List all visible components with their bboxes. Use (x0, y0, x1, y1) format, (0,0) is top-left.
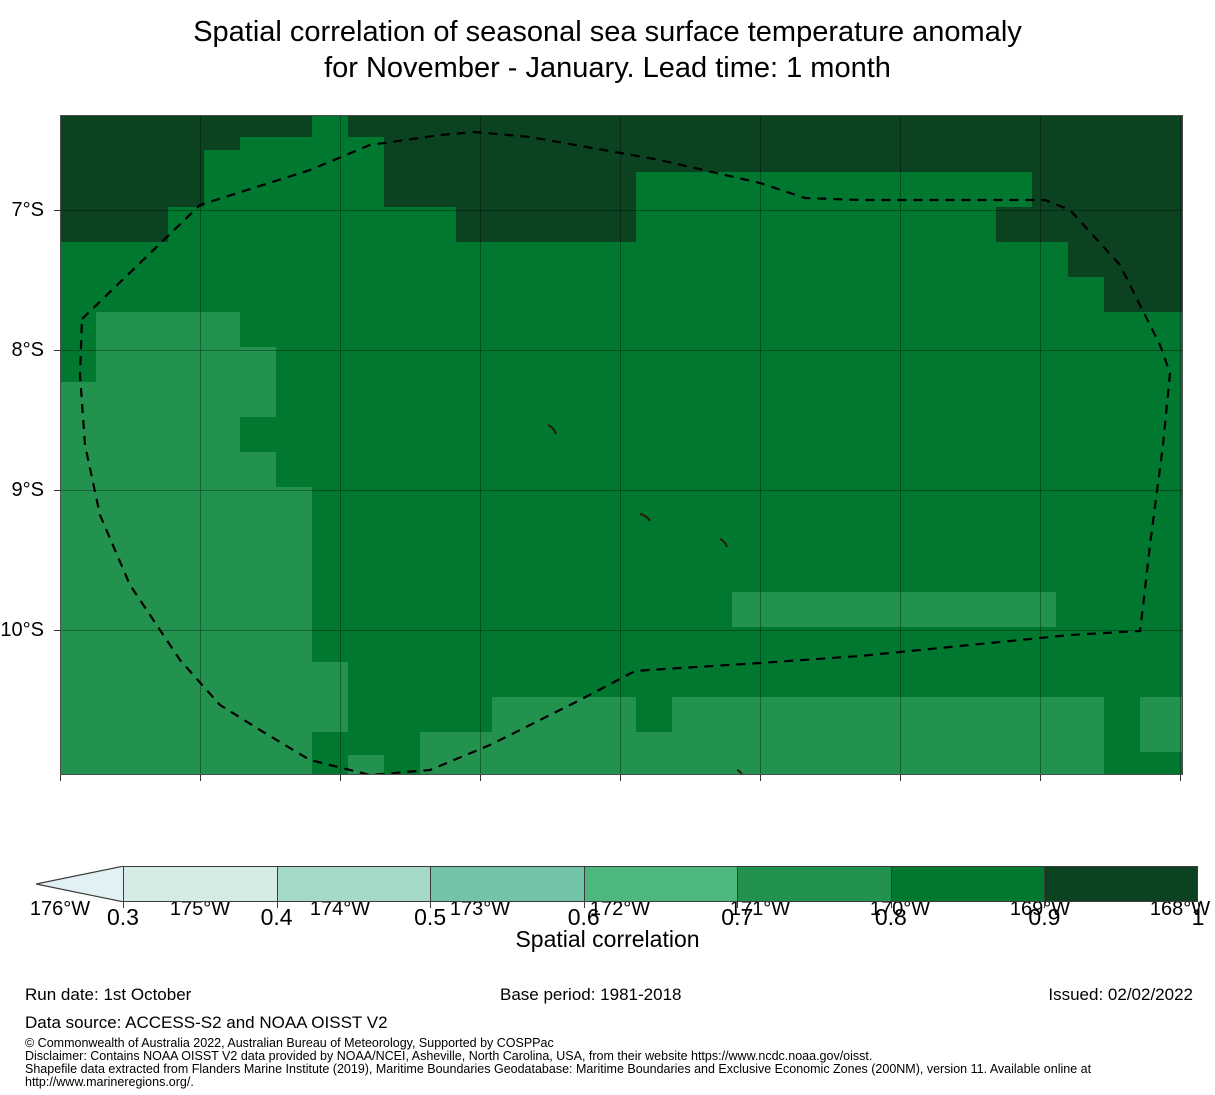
colorbar-segment (891, 866, 1045, 902)
colorbar-extend-arrow (36, 866, 124, 902)
x-tick-mark (1180, 775, 1181, 781)
title-line-1: Spatial correlation of seasonal sea surf… (0, 14, 1215, 50)
island-outlines (60, 115, 1183, 775)
base-period-text: Base period: 1981-2018 (500, 985, 681, 1005)
y-axis-tick-label: 7°S (0, 200, 56, 220)
colorbar-segment (123, 866, 277, 902)
island-atoll-4 (737, 770, 742, 775)
x-tick-mark (1040, 775, 1041, 781)
x-tick-mark (200, 775, 201, 781)
data-source-text: Data source: ACCESS-S2 and NOAA OISST V2 (25, 1013, 388, 1033)
colorbar-segment (430, 866, 584, 902)
x-tick-mark (620, 775, 621, 781)
x-tick-mark (60, 775, 61, 781)
x-tick-mark (480, 775, 481, 781)
x-tick-mark (900, 775, 901, 781)
title-line-2: for November - January. Lead time: 1 mon… (0, 50, 1215, 86)
map-clip (60, 115, 1183, 775)
colorbar[interactable]: 0.30.40.50.60.70.80.91 (18, 866, 1198, 902)
shapefile-text-line-2: http://www.marineregions.org/. (25, 1075, 194, 1090)
page-title: Spatial correlation of seasonal sea surf… (0, 14, 1215, 86)
colorbar-segments (123, 866, 1198, 902)
colorbar-segment (584, 866, 738, 902)
island-atoll-1 (548, 425, 556, 434)
x-tick-mark (760, 775, 761, 781)
y-axis-tick-label: 10°S (0, 620, 56, 640)
footer-row: Run date: 1st October Base period: 1981-… (0, 985, 1215, 1007)
run-date-text: Run date: 1st October (25, 985, 191, 1005)
island-atoll-2 (640, 514, 650, 521)
x-tick-mark (340, 775, 341, 781)
colorbar-segment (1044, 866, 1198, 902)
colorbar-label: Spatial correlation (0, 926, 1215, 953)
map-plot-area: 176°W175°W174°W173°W172°W171°W170°W169°W… (60, 115, 1183, 775)
colorbar-segment (277, 866, 431, 902)
colorbar-segment (737, 866, 891, 902)
issued-date-text: Issued: 02/02/2022 (1048, 985, 1193, 1005)
colorbar-under-triangle (36, 866, 124, 902)
y-axis-tick-label: 8°S (0, 340, 56, 360)
y-axis-tick-label: 9°S (0, 480, 56, 500)
island-atoll-3 (720, 539, 727, 547)
